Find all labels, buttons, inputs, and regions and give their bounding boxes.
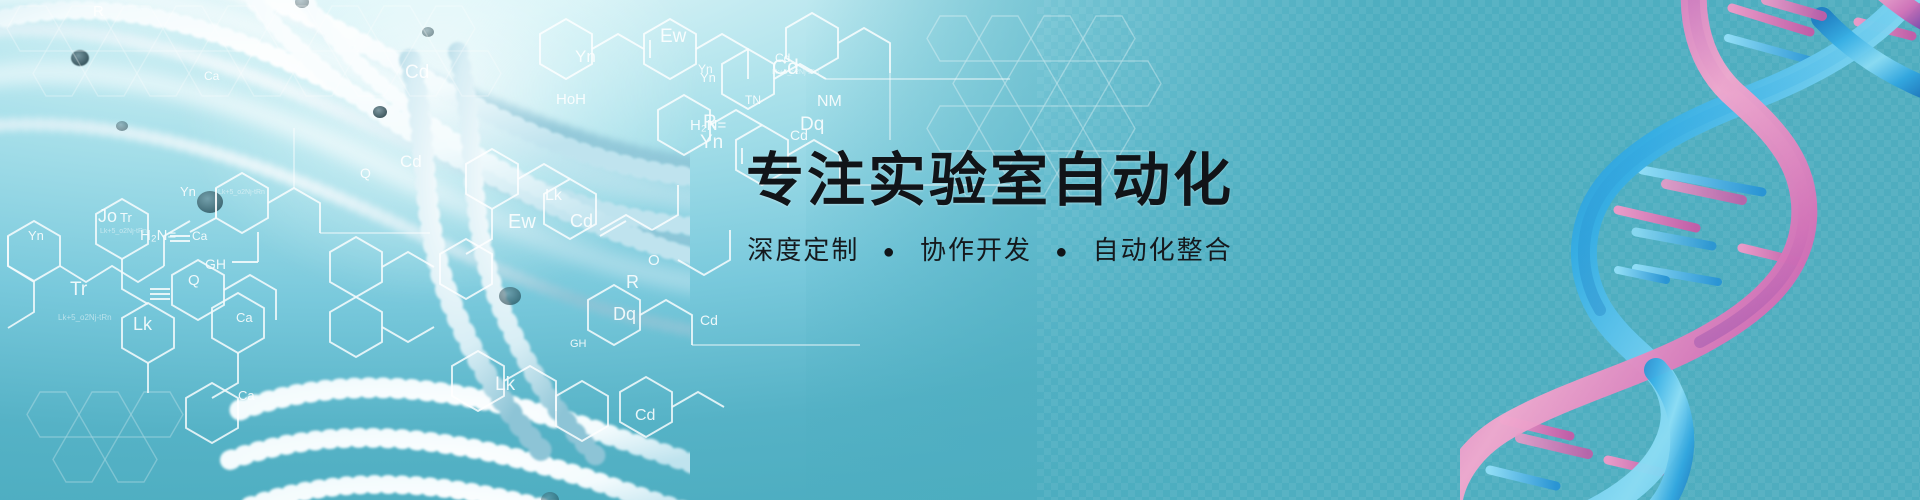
subtitle-item-1: 深度定制 (747, 235, 859, 266)
chem-label: Q (188, 272, 200, 289)
subtitle-item-2: 协作开发 (920, 235, 1032, 266)
chem-label: Dq (613, 304, 636, 324)
chem-label: R (93, 3, 104, 20)
chem-label: Lk (495, 374, 516, 395)
subtitle-separator-2: ● (1055, 240, 1069, 264)
chem-label: TN (745, 93, 761, 107)
chem-label: Ca (236, 310, 253, 325)
chem-label: Lk+5_o2Nj-tRn (58, 313, 112, 322)
subtitle-item-3: 自动化整合 (1093, 235, 1233, 266)
hero-banner: .ln{fill:none;stroke:#ffffff;stroke-widt… (0, 0, 1920, 500)
chem-label: GH (570, 338, 587, 350)
banner-text-block: 专注实验室自动化 深度定制 ● 协作开发 ● 自动化整合 (0, 150, 1920, 266)
chem-label: Ew (660, 26, 687, 47)
chem-label: HoH (556, 91, 586, 108)
chem-label: Lk+5_o2Nj-tRn (772, 69, 819, 76)
chem-label: Tr (70, 279, 88, 300)
chem-label: R (626, 272, 639, 292)
page-title: 专注实验室自动化 (60, 150, 1920, 213)
chem-label: Yn (698, 62, 713, 76)
chem-label: Cd (405, 62, 429, 83)
banner-subtitle: 深度定制 ● 协作开发 ● 自动化整合 (60, 235, 1920, 266)
chem-label: NM (817, 93, 842, 110)
chem-label: Lk (133, 314, 153, 334)
subtitle-separator-1: ● (883, 240, 897, 264)
chem-label: H₂N= (690, 117, 726, 134)
chem-label: Cd (790, 127, 808, 143)
chem-label: Ca (238, 388, 255, 403)
chem-label: Cd (700, 312, 718, 328)
chem-label: Ca (204, 69, 220, 83)
chem-label: Cd (775, 51, 790, 65)
chem-label: Yn (575, 47, 596, 66)
chem-label: Cd (635, 407, 655, 424)
